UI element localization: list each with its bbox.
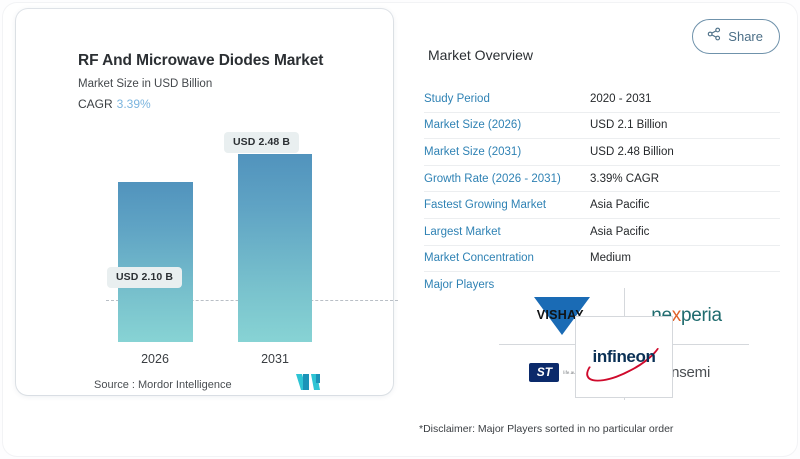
share-button-label: Share — [728, 29, 763, 44]
bar-2026[interactable] — [118, 182, 193, 342]
row-value: Asia Pacific — [590, 199, 649, 211]
row-label: Market Size (2026) — [424, 119, 590, 131]
row-label: Fastest Growing Market — [424, 199, 590, 211]
st-wordmark: ST — [537, 366, 552, 378]
chart-title: RF And Microwave Diodes Market — [78, 52, 323, 70]
row-value: Asia Pacific — [590, 226, 649, 238]
major-players-logo-grid: VISHAY. nexperia ST life.augmented onsem… — [499, 288, 749, 400]
x-axis-label-2031: 2031 — [230, 352, 320, 366]
chart-subtitle: Market Size in USD Billion — [78, 78, 212, 90]
row-label: Growth Rate (2026 - 2031) — [424, 173, 590, 185]
row-label: Market Concentration — [424, 252, 590, 264]
row-value: 2020 - 2031 — [590, 93, 651, 105]
row-label: Market Size (2031) — [424, 146, 590, 158]
row-value: USD 2.48 Billion — [590, 146, 674, 158]
player-logo-infineon: infineon — [575, 316, 673, 398]
st-mark-icon: ST — [529, 363, 559, 382]
chart-card: RF And Microwave Diodes Market Market Si… — [16, 9, 393, 395]
bar-label-2031: USD 2.48 B — [224, 132, 299, 153]
row-label: Largest Market — [424, 226, 590, 238]
table-row: Study Period 2020 - 2031 — [424, 86, 780, 113]
row-label: Study Period — [424, 93, 590, 105]
table-row: Market Size (2031) USD 2.48 Billion — [424, 139, 780, 166]
bar-2031[interactable] — [238, 154, 312, 342]
share-network-icon — [707, 27, 721, 46]
chart-cagr: CAGR3.39% — [78, 97, 151, 111]
report-card-page: RF And Microwave Diodes Market Market Si… — [0, 0, 800, 459]
disclaimer-text: *Disclaimer: Major Players sorted in no … — [419, 423, 673, 435]
source-text: Source : Mordor Intelligence — [94, 379, 232, 391]
share-button[interactable]: Share — [692, 19, 780, 54]
cagr-label: CAGR — [78, 97, 113, 111]
row-value: Medium — [590, 252, 631, 264]
row-value: 3.39% CAGR — [590, 173, 659, 185]
cagr-value: 3.39% — [117, 97, 151, 111]
table-row: Market Size (2026) USD 2.1 Billion — [424, 113, 780, 140]
table-row: Growth Rate (2026 - 2031) 3.39% CAGR — [424, 166, 780, 193]
table-row: Market Concentration Medium — [424, 246, 780, 273]
source-row: Source : Mordor Intelligence — [94, 374, 320, 395]
infineon-wordmark: infineon — [580, 347, 668, 367]
nexperia-x-glyph: x — [672, 305, 681, 326]
x-axis-label-2026: 2026 — [110, 352, 200, 366]
row-value: USD 2.1 Billion — [590, 119, 667, 131]
table-row: Largest Market Asia Pacific — [424, 219, 780, 246]
bar-label-2026: USD 2.10 B — [107, 267, 182, 288]
table-row: Fastest Growing Market Asia Pacific — [424, 192, 780, 219]
bar-chart-plot: USD 2.10 B USD 2.48 B 2026 2031 — [104, 127, 334, 342]
mordor-intelligence-logo — [296, 374, 320, 395]
market-overview-title: Market Overview — [428, 47, 533, 63]
infineon-logo: infineon — [580, 337, 668, 377]
market-overview-table: Study Period 2020 - 2031 Market Size (20… — [424, 86, 780, 299]
